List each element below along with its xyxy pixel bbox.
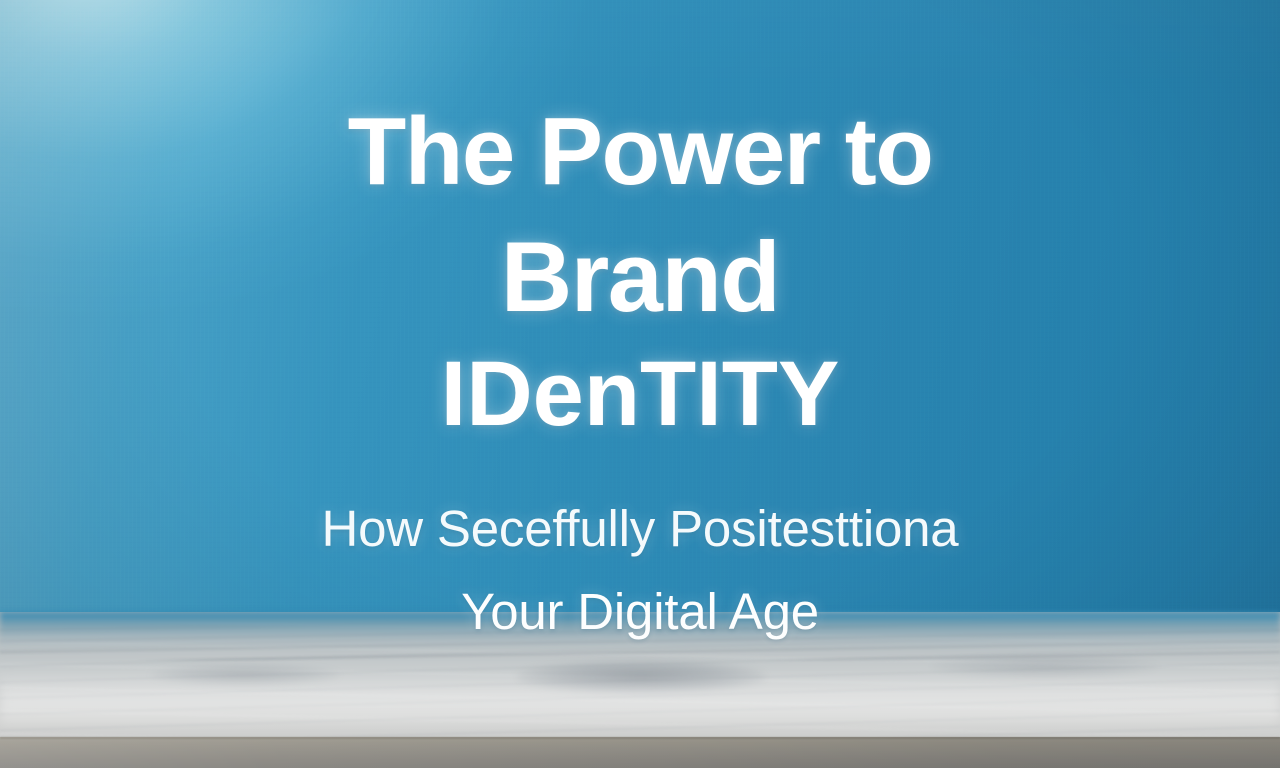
headline-line-2: Brand [0,227,1280,326]
table-edge-seam [0,737,1280,739]
subtitle-line-1: How Seceffully Positesttiona [0,500,1280,557]
headline-line-1: The Power to [0,104,1280,200]
table-front-edge [0,737,1280,768]
title-card-canvas: The Power to Brand IDenTITY How Secefful… [0,0,1280,768]
subtitle-line-2: Your Digital Age [0,583,1280,640]
headline-line-3: IDenTITY [0,348,1280,440]
table-edge-shading [0,737,1280,768]
